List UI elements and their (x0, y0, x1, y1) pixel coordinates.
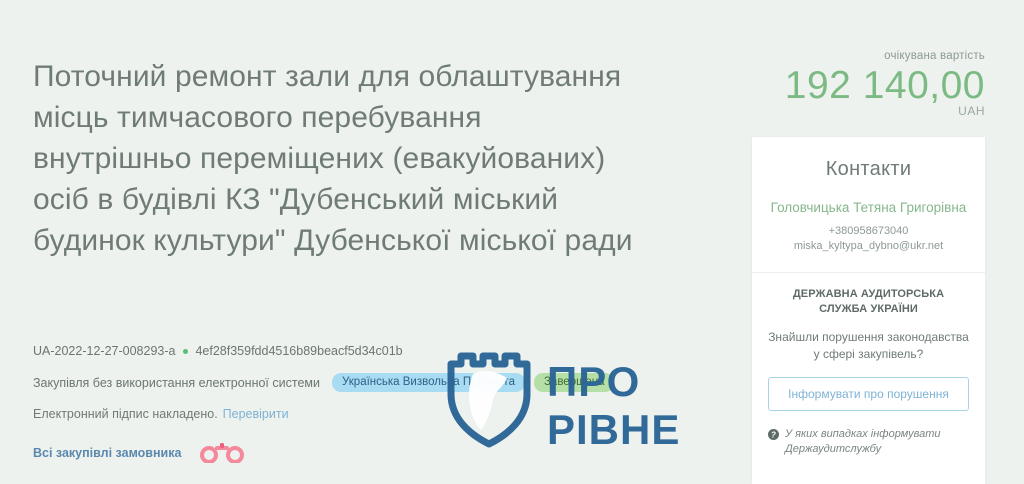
all-purchases-link[interactable]: Всі закупівлі замовника (33, 446, 181, 460)
handcuffs-icon (199, 443, 245, 463)
tender-hash: 4ef28f359fdd4516b89beacf5d34c01b (195, 344, 402, 358)
audit-help-row[interactable]: ? У яких випадках інформувати Держаудитс… (768, 427, 969, 457)
tender-meta-block: UA-2022-12-27-008293-a 4ef28f359fdd4516b… (33, 344, 683, 463)
contacts-heading: Контакти (768, 158, 969, 181)
contact-person-name: Головчицька Тетяна Григорівна (768, 198, 969, 217)
audit-service-question: Знайшли порушення законодавства у сфері … (768, 329, 969, 363)
procedure-and-badges-row: Закупівля без використання електронної с… (33, 373, 683, 392)
status-dot-icon (183, 349, 188, 354)
svg-text:?: ? (771, 431, 776, 440)
status-badge-program: Українська Визвольна Перемога (332, 373, 525, 392)
all-purchases-row: Всі закупівлі замовника (33, 443, 683, 463)
expected-value-label: очікувана вартість (705, 50, 985, 62)
expected-value-block: очікувана вартість 192 140,00 UAH (705, 50, 985, 118)
audit-help-link[interactable]: У яких випадках інформувати Держаудитслу… (785, 427, 969, 457)
signature-status-label: Електронний підпис накладено. (33, 407, 218, 421)
audit-service-title: ДЕРЖАВНА АУДИТОРСЬКА СЛУЖБА УКРАЇНИ (768, 287, 969, 317)
electronic-signature-row: Електронний підпис накладено. Перевірити (33, 407, 683, 421)
contact-phone[interactable]: +380958673040 (768, 224, 969, 239)
report-violation-button[interactable]: Інформувати про порушення (768, 377, 969, 411)
expected-value-amount: 192 140,00 (705, 64, 985, 108)
page-title: Поточний ремонт зали для облаштування мі… (33, 56, 633, 261)
status-badge-completed: Завершена (534, 373, 614, 392)
verify-signature-link[interactable]: Перевірити (223, 407, 289, 421)
contacts-card: Контакти Головчицька Тетяна Григорівна +… (752, 137, 985, 484)
tender-identifiers-row: UA-2022-12-27-008293-a 4ef28f359fdd4516b… (33, 344, 683, 358)
procedure-type-label: Закупівля без використання електронної с… (33, 376, 320, 390)
tender-main-column: Поточний ремонт зали для облаштування мі… (0, 0, 700, 484)
sidebar-column: очікувана вартість 192 140,00 UAH Контак… (700, 0, 1024, 484)
divider (752, 272, 985, 273)
contact-email[interactable]: miska_kyltypa_dybno@ukr.net (768, 239, 969, 254)
tender-id: UA-2022-12-27-008293-a (33, 344, 175, 358)
help-circle-icon: ? (768, 429, 779, 445)
